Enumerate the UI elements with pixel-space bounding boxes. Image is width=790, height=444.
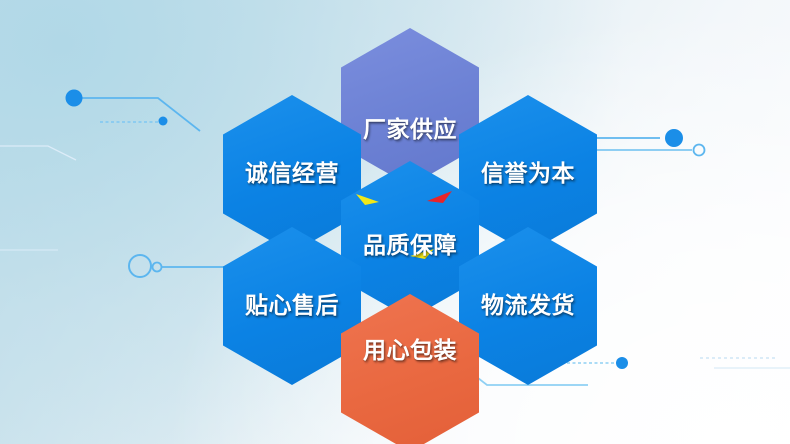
accent-yellow-lower-arrow-icon [407,247,435,265]
hex-cell-left-bottom[interactable]: 贴心售后 [223,227,361,385]
accent-yellow-left-arrow-icon [355,191,383,211]
hex-label-left-bottom: 贴心售后 [245,295,339,318]
honeycomb-group: 厂家供应 诚信经营 信誉为本 品质保障 贴心售后 物流发货 [0,0,790,444]
hex-label-center: 品质保障 [363,235,457,258]
hex-label-right-top: 信誉为本 [481,163,575,186]
accent-red-right-arrow-icon [423,189,453,209]
hex-label-right-bottom: 物流发货 [481,295,575,318]
infographic-canvas: 厂家供应 诚信经营 信誉为本 品质保障 贴心售后 物流发货 [0,0,790,444]
hex-label-bottom: 用心包装 [363,340,457,363]
hex-label-top: 厂家供应 [363,119,457,142]
hex-cell-bottom[interactable]: 用心包装 [341,294,479,444]
hex-cell-right-bottom[interactable]: 物流发货 [459,227,597,385]
hex-label-left-top: 诚信经营 [245,163,339,186]
